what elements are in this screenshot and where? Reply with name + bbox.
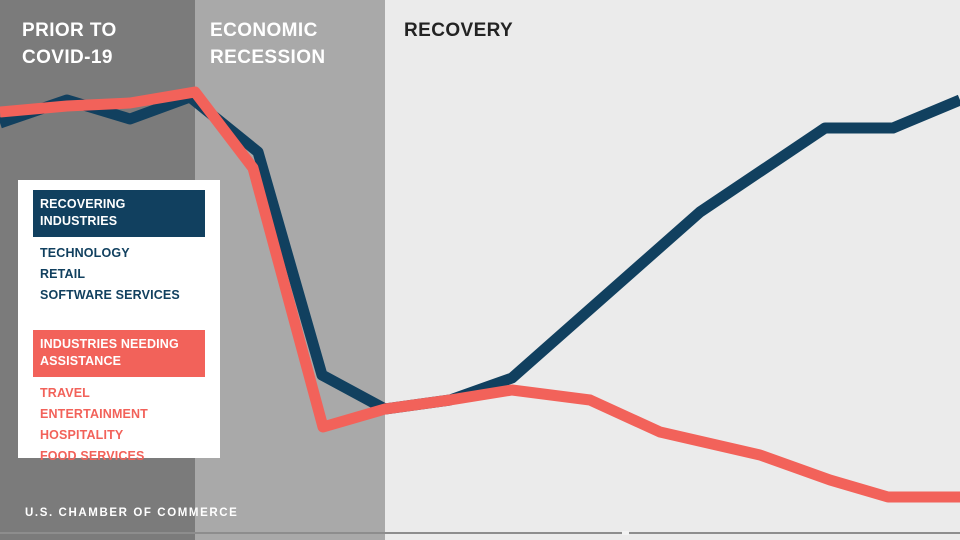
infographic-canvas: PRIOR TO COVID-19 ECONOMIC RECESSION REC…	[0, 0, 960, 540]
legend-group-industries-needing-assistance: INDUSTRIES NEEDING ASSISTANCE TRAVEL ENT…	[33, 330, 205, 467]
baseline-rule	[0, 532, 960, 534]
legend-item-hospitality: HOSPITALITY	[40, 425, 205, 446]
legend-header-recovering-industries: RECOVERING INDUSTRIES	[33, 190, 205, 237]
chart-legend: RECOVERING INDUSTRIES TECHNOLOGY RETAIL …	[18, 180, 220, 458]
legend-item-travel: TRAVEL	[40, 383, 205, 404]
legend-item-software-services: SOFTWARE SERVICES	[40, 285, 205, 306]
baseline-tick-gap	[622, 531, 629, 535]
phase-title-recovery: RECOVERY	[404, 18, 513, 45]
legend-group-recovering-industries: RECOVERING INDUSTRIES TECHNOLOGY RETAIL …	[33, 190, 205, 306]
legend-items-recovering-industries: TECHNOLOGY RETAIL SOFTWARE SERVICES	[33, 243, 205, 306]
legend-item-technology: TECHNOLOGY	[40, 243, 205, 264]
legend-item-entertainment: ENTERTAINMENT	[40, 404, 205, 425]
legend-header-industries-needing-assistance: INDUSTRIES NEEDING ASSISTANCE	[33, 330, 205, 377]
legend-item-retail: RETAIL	[40, 264, 205, 285]
footer-brand-us-chamber-of-commerce: U.S. CHAMBER OF COMMERCE	[25, 507, 238, 519]
phase-title-prior-to-covid-19: PRIOR TO COVID-19	[22, 18, 117, 72]
legend-items-industries-needing-assistance: TRAVEL ENTERTAINMENT HOSPITALITY FOOD SE…	[33, 383, 205, 467]
phase-title-economic-recession: ECONOMIC RECESSION	[210, 18, 326, 72]
legend-item-food-services: FOOD SERVICES	[40, 446, 205, 467]
